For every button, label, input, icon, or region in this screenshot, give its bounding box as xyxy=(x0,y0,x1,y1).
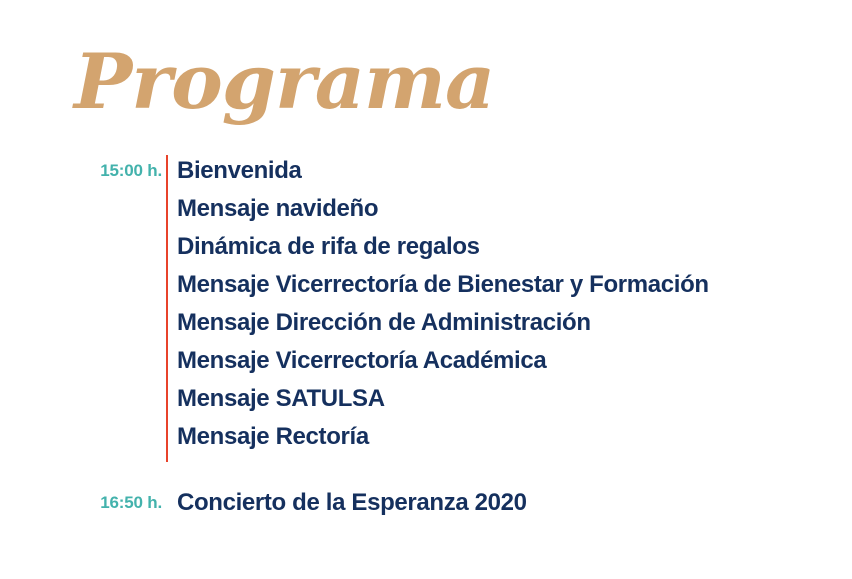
schedule-item: Bienvenida xyxy=(177,152,852,190)
schedule-item: Mensaje navideño xyxy=(177,190,852,228)
program-poster: Programa 15:00 h. Bienvenida Mensaje nav… xyxy=(0,0,852,579)
schedule-group-row: 15:00 h. Bienvenida Mensaje navideño Din… xyxy=(0,152,852,456)
schedule-group: 16:50 h. Concierto de la Esperanza 2020 xyxy=(0,484,852,522)
schedule-item: Concierto de la Esperanza 2020 xyxy=(177,484,852,522)
schedule-time-label: 16:50 h. xyxy=(0,484,162,522)
schedule-items: Bienvenida Mensaje navideño Dinámica de … xyxy=(162,152,852,456)
schedule-items: Concierto de la Esperanza 2020 xyxy=(162,484,852,522)
schedule-time-label: 15:00 h. xyxy=(0,152,162,190)
schedule-list: 15:00 h. Bienvenida Mensaje navideño Din… xyxy=(0,152,852,522)
schedule-group-row: 16:50 h. Concierto de la Esperanza 2020 xyxy=(0,484,852,522)
schedule-item: Mensaje Vicerrectoría Académica xyxy=(177,342,852,380)
schedule-item: Mensaje Dirección de Administración xyxy=(177,304,852,342)
schedule-item: Dinámica de rifa de regalos xyxy=(177,228,852,266)
schedule-group: 15:00 h. Bienvenida Mensaje navideño Din… xyxy=(0,152,852,456)
schedule-item: Mensaje Vicerrectoría de Bienestar y For… xyxy=(177,266,852,304)
page-title: Programa xyxy=(74,39,494,125)
schedule-item: Mensaje SATULSA xyxy=(177,380,852,418)
schedule-item: Mensaje Rectoría xyxy=(177,418,852,456)
